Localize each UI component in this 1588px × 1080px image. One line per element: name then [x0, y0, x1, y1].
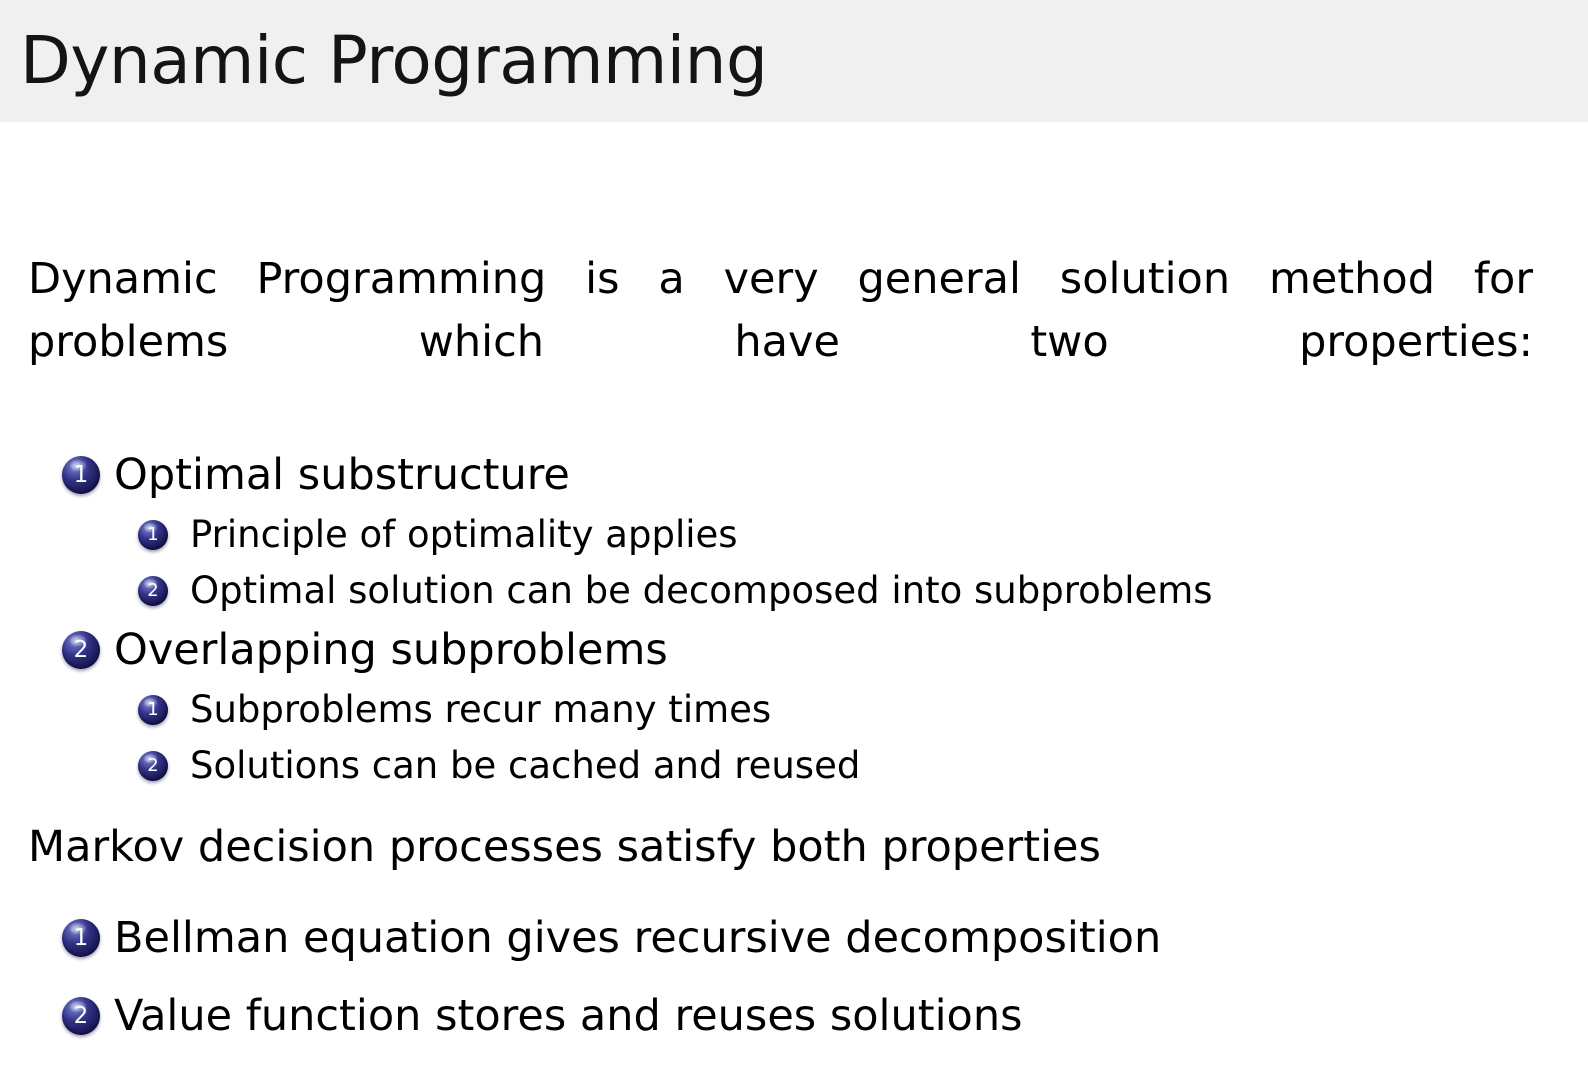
bullet-marker-wrap: 1 [62, 444, 114, 507]
sublist-container: 1 Subproblems recur many times 2 Solutio… [28, 682, 1533, 794]
list-item: 2 Value function stores and reuses solut… [28, 977, 1533, 1055]
bullet-marker-wrap: 2 [62, 977, 114, 1055]
mdp-paragraph: Markov decision processes satisfy both p… [28, 816, 1533, 879]
bullet-marker-wrap: 1 [138, 682, 190, 738]
bullet-number: 2 [62, 997, 100, 1035]
bullet-number: 1 [62, 456, 100, 494]
numbered-sphere-bullet-icon: 1 [138, 695, 168, 725]
list-item-label: Subproblems recur many times [190, 682, 771, 738]
numbered-sphere-bullet-icon: 1 [138, 520, 168, 550]
list-item-label: Optimal substructure [114, 444, 570, 507]
bullet-number: 2 [138, 751, 168, 781]
list-item: 2 Optimal solution can be decomposed int… [138, 563, 1533, 619]
slide-header: Dynamic Programming [0, 0, 1588, 122]
list-item: 1 Optimal substructure [28, 444, 1533, 507]
mdp-points-list: 1 Bellman equation gives recursive decom… [28, 899, 1533, 1055]
bullet-number: 2 [138, 576, 168, 606]
list-item: 1 Subproblems recur many times [138, 682, 1533, 738]
numbered-sphere-bullet-icon: 2 [138, 576, 168, 606]
sublist-container: 1 Principle of optimality applies 2 Opti… [28, 507, 1533, 619]
list-item: 2 Overlapping subproblems [28, 619, 1533, 682]
bullet-marker-wrap: 2 [62, 619, 114, 682]
page-title: Dynamic Programming [20, 28, 767, 94]
list-item-label: Optimal solution can be decomposed into … [190, 563, 1213, 619]
list-item-label: Bellman equation gives recursive decompo… [114, 899, 1161, 977]
numbered-sphere-bullet-icon: 2 [62, 997, 100, 1035]
numbered-sphere-bullet-icon: 1 [62, 919, 100, 957]
numbered-sphere-bullet-icon: 1 [62, 456, 100, 494]
list-item: 2 Solutions can be cached and reused [138, 738, 1533, 794]
slide: Dynamic Programming Dynamic Programming … [0, 0, 1588, 1080]
bullet-marker-wrap: 2 [138, 563, 190, 619]
list-item-label: Solutions can be cached and reused [190, 738, 860, 794]
bullet-number: 1 [138, 520, 168, 550]
list-item-label: Value function stores and reuses solutio… [114, 977, 1023, 1055]
list-item-label: Overlapping subproblems [114, 619, 668, 682]
list-item: 1 Bellman equation gives recursive decom… [28, 899, 1533, 977]
numbered-sphere-bullet-icon: 2 [62, 631, 100, 669]
intro-paragraph: Dynamic Programming is a very general so… [28, 248, 1533, 438]
slide-body: Dynamic Programming is a very general so… [28, 248, 1533, 1055]
list-item: 1 Principle of optimality applies [138, 507, 1533, 563]
bullet-marker-wrap: 2 [138, 738, 190, 794]
optimal-substructure-sublist: 1 Principle of optimality applies 2 Opti… [138, 507, 1533, 619]
overlapping-subproblems-sublist: 1 Subproblems recur many times 2 Solutio… [138, 682, 1533, 794]
bullet-marker-wrap: 1 [62, 899, 114, 977]
bullet-number: 1 [62, 919, 100, 957]
bullet-marker-wrap: 1 [138, 507, 190, 563]
bullet-number: 1 [138, 695, 168, 725]
list-item-label: Principle of optimality applies [190, 507, 738, 563]
properties-list: 1 Optimal substructure 1 Principle of op… [28, 444, 1533, 794]
bullet-number: 2 [62, 631, 100, 669]
numbered-sphere-bullet-icon: 2 [138, 751, 168, 781]
